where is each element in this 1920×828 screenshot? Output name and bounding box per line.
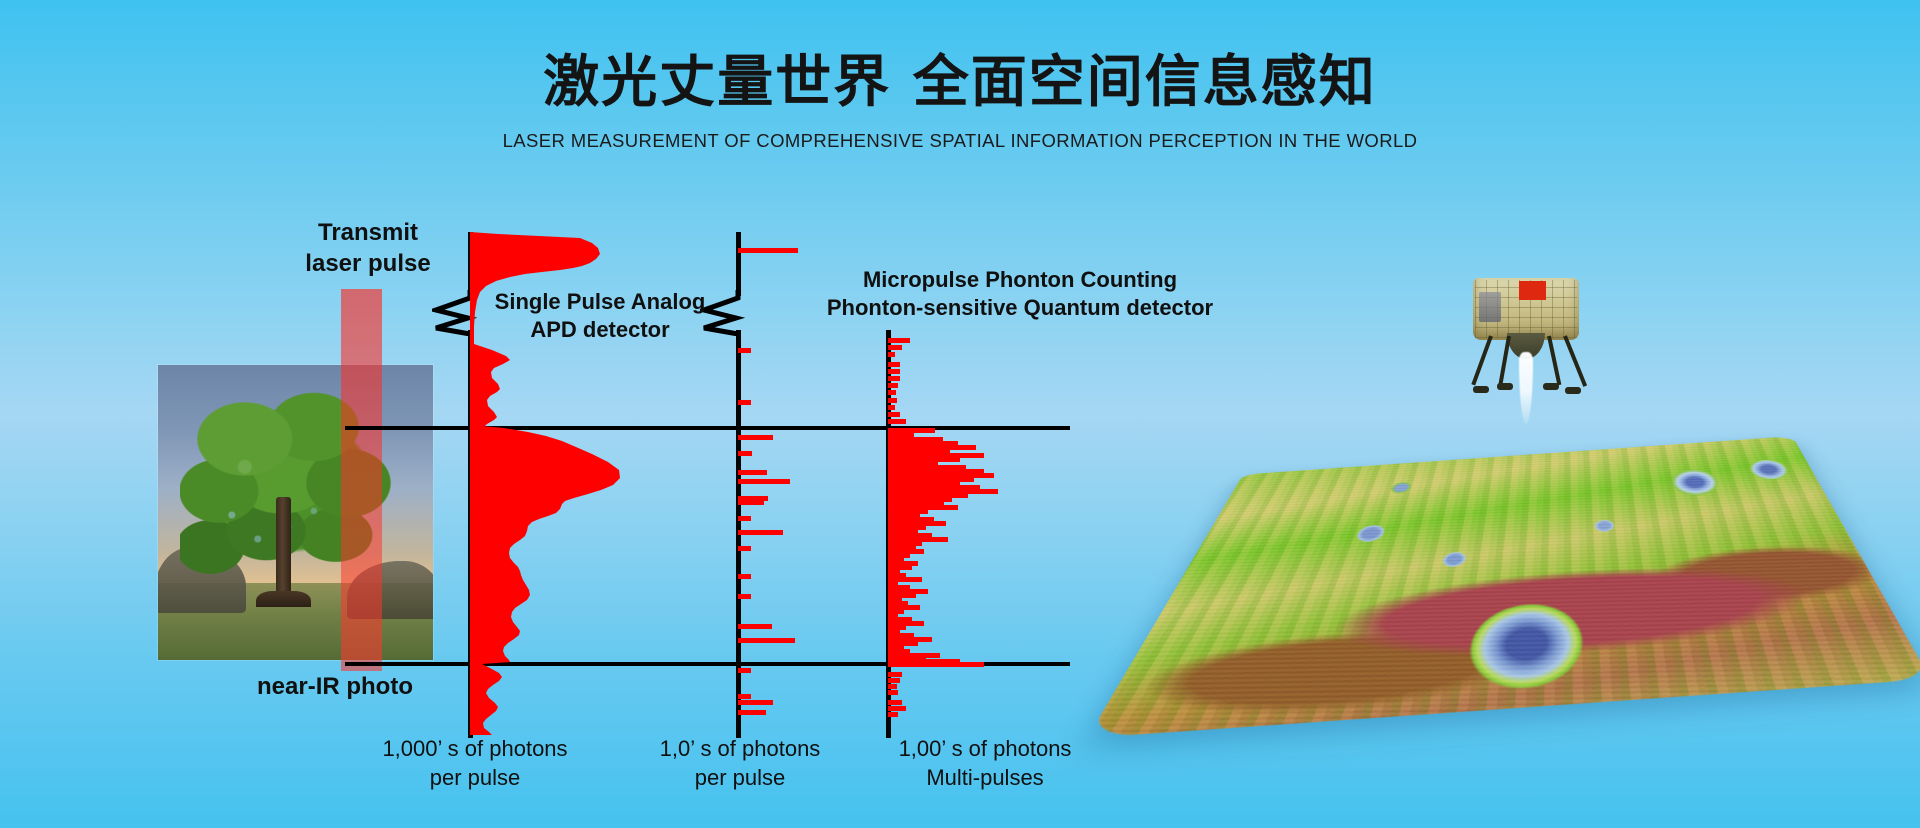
micropulse-detector-caption: Micropulse Phonton Counting Phonton-sens… — [810, 266, 1230, 322]
photo-tree-trunk — [276, 497, 291, 607]
transmit-laser-label-line1: Transmit — [258, 218, 478, 249]
histogram-bar — [888, 700, 902, 705]
histogram-bar — [888, 376, 900, 381]
poster-canvas: 激光丈量世界 全面空间信息感知 LASER MEASUREMENT OF COM… — [0, 0, 1920, 828]
laser-beam-column — [341, 289, 382, 671]
histogram-bar — [888, 383, 898, 388]
analog-detector-caption: Single Pulse Analog APD detector — [450, 288, 750, 344]
lander-foot-3 — [1543, 383, 1559, 390]
histogram-bar — [888, 690, 898, 695]
histogram-bar — [888, 684, 897, 689]
histogram-bar — [738, 248, 798, 253]
histogram-bar — [738, 348, 751, 353]
bottom-label-photon: 1,0’ s of photons per pulse — [625, 735, 855, 792]
histogram-bar — [888, 398, 897, 403]
bottom-label-photon-line2: per pulse — [625, 764, 855, 793]
lander-foot-2 — [1497, 383, 1513, 390]
transmit-laser-label: Transmit laser pulse — [258, 218, 478, 279]
histogram-bar — [738, 700, 773, 705]
histogram-bar — [888, 662, 984, 667]
histogram-bar — [888, 672, 902, 677]
histogram-bar — [738, 479, 790, 484]
near-ir-photo-label-text: near-IR photo — [257, 673, 413, 700]
near-ir-photo-label: near-IR photo — [215, 672, 455, 703]
micropulse-histogram-bars — [888, 0, 1068, 828]
histogram-bar — [888, 390, 896, 395]
lander-leg-4 — [1563, 335, 1587, 387]
lander-leg-3 — [1547, 336, 1561, 386]
histogram-bar — [738, 710, 766, 715]
histogram-bar — [738, 574, 751, 579]
lander-instrument-panel — [1479, 292, 1501, 322]
histogram-bar — [888, 338, 910, 343]
lander-leg-1 — [1471, 335, 1493, 385]
histogram-bar — [738, 451, 752, 456]
histogram-bar — [888, 405, 895, 410]
histogram-bar — [888, 678, 900, 683]
histogram-bar — [738, 530, 783, 535]
analog-detector-caption-line1: Single Pulse Analog — [450, 288, 750, 316]
bottom-label-analog-line1: 1,000’ s of photons — [355, 735, 595, 764]
bottom-label-photon-line1: 1,0’ s of photons — [625, 735, 855, 764]
micropulse-detector-caption-line2: Phonton-sensitive Quantum detector — [810, 294, 1230, 322]
histogram-bar — [888, 712, 898, 717]
histogram-bar — [888, 706, 906, 711]
histogram-bar — [738, 638, 795, 643]
histogram-bar — [888, 412, 900, 417]
histogram-bar — [738, 624, 772, 629]
histogram-bar — [738, 500, 764, 505]
lidar-waveform-diagram: Transmit laser pulse Single Pulse Analog… — [0, 0, 1160, 828]
histogram-bar — [738, 694, 751, 699]
histogram-bar — [738, 400, 751, 405]
lander-foot-1 — [1473, 386, 1489, 393]
histogram-bar — [888, 352, 895, 357]
histogram-bar — [738, 470, 767, 475]
micropulse-detector-caption-line1: Micropulse Phonton Counting — [810, 266, 1230, 294]
engine-plume — [1519, 352, 1533, 424]
photon-counting-bars — [738, 0, 858, 828]
histogram-bar — [738, 546, 751, 551]
bottom-label-micropulse-line2: Multi-pulses — [865, 764, 1105, 793]
histogram-bar — [888, 419, 906, 424]
lunar-lander — [1463, 278, 1589, 406]
lunar-landing-visual — [1195, 278, 1885, 758]
histogram-bar — [738, 594, 751, 599]
bottom-label-analog: 1,000’ s of photons per pulse — [355, 735, 595, 792]
histogram-bar — [888, 369, 900, 374]
bottom-label-micropulse-line1: 1,00’ s of photons — [865, 735, 1105, 764]
bottom-label-analog-line2: per pulse — [355, 764, 595, 793]
lander-foot-4 — [1565, 387, 1581, 394]
histogram-bar — [738, 516, 751, 521]
analog-detector-caption-line2: APD detector — [450, 316, 750, 344]
transmit-laser-label-line2: laser pulse — [258, 249, 478, 280]
bottom-label-micropulse: 1,00’ s of photons Multi-pulses — [865, 735, 1105, 792]
near-ir-tree-photo — [158, 365, 433, 660]
lander-leg-2 — [1498, 336, 1511, 386]
histogram-bar — [888, 362, 900, 367]
china-flag-icon — [1519, 281, 1546, 300]
histogram-bar — [888, 345, 902, 350]
histogram-bar — [738, 668, 751, 673]
histogram-bar — [738, 435, 773, 440]
dem-terrain-model — [1087, 436, 1920, 738]
